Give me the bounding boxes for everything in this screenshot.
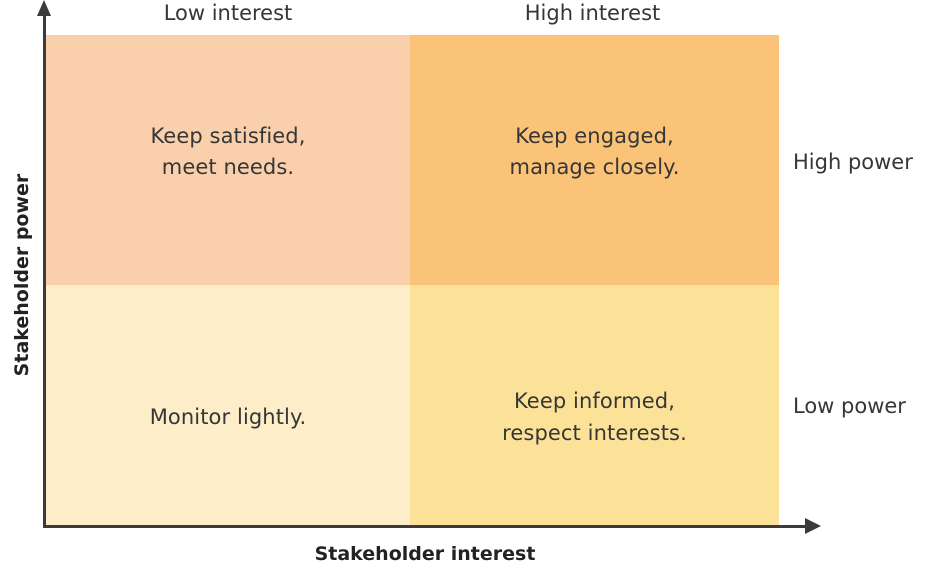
quadrant-high-power-high-interest: Keep engaged, manage closely. (410, 35, 779, 285)
column-header-low-interest: Low interest (108, 1, 348, 25)
x-axis-title: Stakeholder interest (180, 543, 670, 565)
x-axis-arrow-icon (805, 518, 821, 534)
row-label-low-power: Low power (793, 394, 906, 418)
quadrant-high-power-low-interest: Keep satisfied, meet needs. (46, 35, 410, 285)
quadrant-label: Keep informed, respect interests. (502, 386, 687, 449)
row-label-high-power: High power (793, 150, 913, 174)
quadrant-label: Keep satisfied, meet needs. (150, 121, 305, 184)
quadrant-grid: Keep satisfied, meet needs. Keep engaged… (46, 35, 779, 526)
quadrant-label: Keep engaged, manage closely. (510, 121, 680, 184)
x-axis-line (43, 525, 809, 528)
quadrant-low-power-high-interest: Keep informed, respect interests. (410, 285, 779, 526)
y-axis-arrow-icon (37, 0, 51, 16)
stakeholder-matrix-diagram: Low interest High interest Keep satisfie… (0, 0, 930, 574)
column-header-high-interest: High interest (470, 1, 715, 25)
y-axis-title: Stakeholder power (11, 165, 33, 385)
quadrant-label: Monitor lightly. (150, 402, 307, 434)
y-axis-line (43, 14, 46, 528)
quadrant-low-power-low-interest: Monitor lightly. (46, 285, 410, 526)
